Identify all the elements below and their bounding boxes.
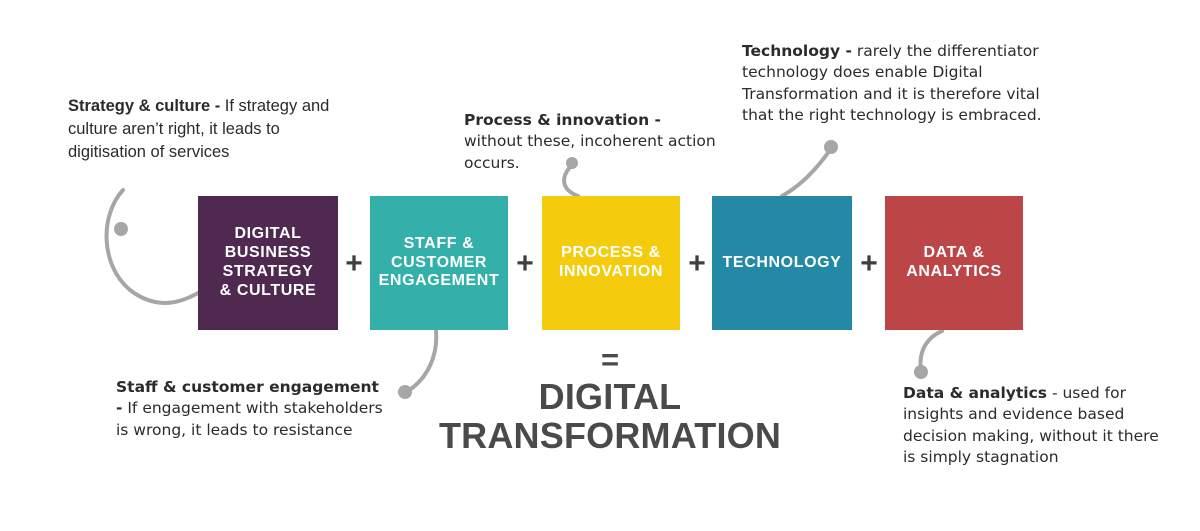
callout-strategy-culture: Strategy & culture - If strategy and cul… [68,95,336,163]
pillar-label-line: & CULTURE [220,282,317,299]
equals-sign: = [400,344,820,375]
connector-dot-strategy [114,222,128,236]
plus-sign-1: + [341,249,367,279]
pillar-label-line: STAFF & [404,235,475,252]
callout-technology: Technology - rarely the differentiator t… [742,41,1048,127]
pillar-box-process-innovation[interactable]: PROCESS & INNOVATION [542,196,680,330]
callout-title: Technology - [742,42,852,60]
callout-process-innovation: Process & innovation - without these, in… [464,110,722,174]
callout-staff-customer-engagement: Staff & customer engagement - If engagem… [116,377,386,441]
pillar-label-line: CUSTOMER [391,254,487,271]
result-title-line: DIGITAL [380,378,840,417]
pillar-label: DIGITAL BUSINESS STRATEGY & CULTURE [214,225,323,301]
pillar-label: PROCESS & INNOVATION [553,244,669,282]
pillar-label-line: DATA & [923,244,984,261]
callout-body: If engagement with stakeholders is wrong… [116,399,383,438]
pillar-box-staff-customer-engagement[interactable]: STAFF & CUSTOMER ENGAGEMENT [370,196,508,330]
pillar-box-technology[interactable]: TECHNOLOGY [712,196,852,330]
callout-body: without these, incoherent action occurs. [464,132,716,171]
plus-sign-4: + [856,249,882,279]
connector-strategy [107,190,200,303]
digital-transformation-diagram: DIGITAL BUSINESS STRATEGY & CULTURE + ST… [0,0,1200,531]
pillar-label-line: DIGITAL [234,225,301,242]
pillar-label: TECHNOLOGY [717,254,848,273]
pillar-label-line: TECHNOLOGY [723,254,842,271]
pillar-box-data-analytics[interactable]: DATA & ANALYTICS [885,196,1023,330]
result-title: DIGITAL TRANSFORMATION [380,378,840,456]
connector-dot-technology [824,140,838,154]
pillar-label-line: STRATEGY [223,263,314,280]
result-title-line: TRANSFORMATION [380,417,840,456]
pillar-label: STAFF & CUSTOMER ENGAGEMENT [373,235,506,292]
callout-title: Process & innovation - [464,111,661,129]
pillar-label-line: ANALYTICS [906,263,1002,280]
callout-title: Data & analytics [903,384,1047,402]
connector-dot-data [914,365,928,379]
callout-title: Strategy & culture - [68,97,220,115]
plus-sign-2: + [512,249,538,279]
pillar-label-line: ENGAGEMENT [379,272,500,289]
pillar-box-digital-business-strategy-culture[interactable]: DIGITAL BUSINESS STRATEGY & CULTURE [198,196,338,330]
connector-technology [782,150,830,196]
pillar-label: DATA & ANALYTICS [900,244,1008,282]
callout-data-analytics: Data & analytics - used for insights and… [903,383,1165,469]
pillar-label-line: INNOVATION [559,263,663,280]
plus-sign-3: + [684,249,710,279]
pillar-label-line: BUSINESS [225,244,312,261]
pillar-label-line: PROCESS & [561,244,661,261]
connector-data [921,331,942,370]
